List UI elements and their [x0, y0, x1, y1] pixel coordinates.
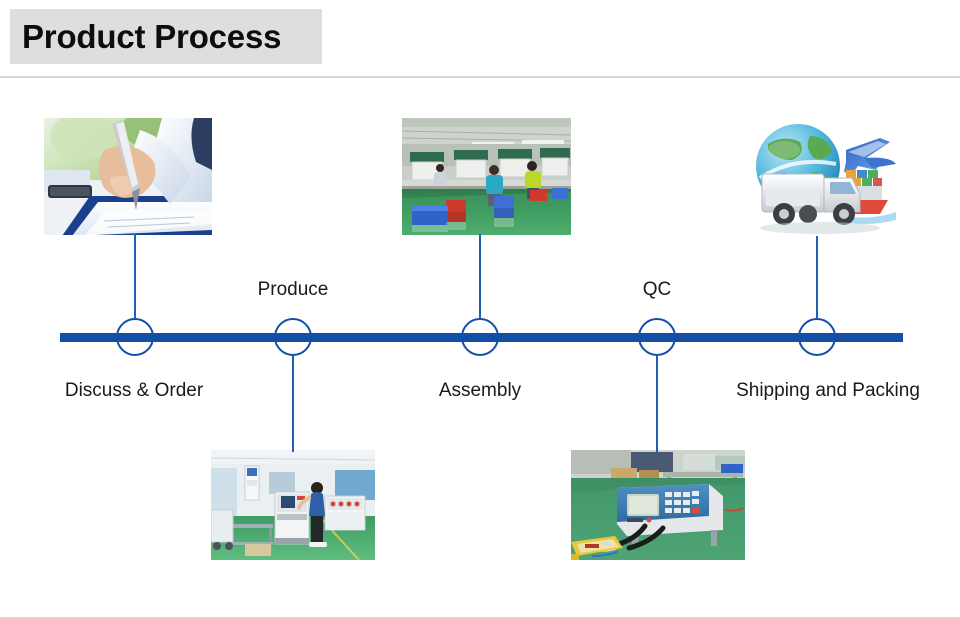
slide-canvas: Product Process — [0, 0, 960, 617]
connector-qc — [656, 356, 658, 452]
connector-shipping-packing — [816, 236, 818, 318]
timeline-node-assembly[interactable] — [461, 318, 499, 356]
timeline-node-discuss-order[interactable] — [116, 318, 154, 356]
timeline-label-qc: QC — [643, 279, 672, 301]
production-room-photo — [211, 450, 375, 560]
assembly-line-photo — [402, 118, 571, 235]
timeline-label-produce: Produce — [258, 279, 329, 301]
page-title: Product Process — [22, 20, 281, 53]
signing-contract-photo — [44, 118, 212, 235]
connector-produce — [292, 356, 294, 452]
header-divider — [0, 76, 960, 78]
timeline-label-discuss-order: Discuss & Order — [65, 380, 203, 402]
page-title-box: Product Process — [10, 9, 322, 64]
timeline-node-shipping-packing[interactable] — [798, 318, 836, 356]
timeline-label-shipping-packing: Shipping and Packing — [736, 380, 920, 402]
logistics-photo — [740, 116, 900, 238]
timeline-node-qc[interactable] — [638, 318, 676, 356]
connector-assembly — [479, 234, 481, 318]
timeline-label-assembly: Assembly — [439, 380, 521, 402]
qc-tester-photo — [571, 450, 745, 560]
connector-discuss-order — [134, 234, 136, 318]
timeline-node-produce[interactable] — [274, 318, 312, 356]
